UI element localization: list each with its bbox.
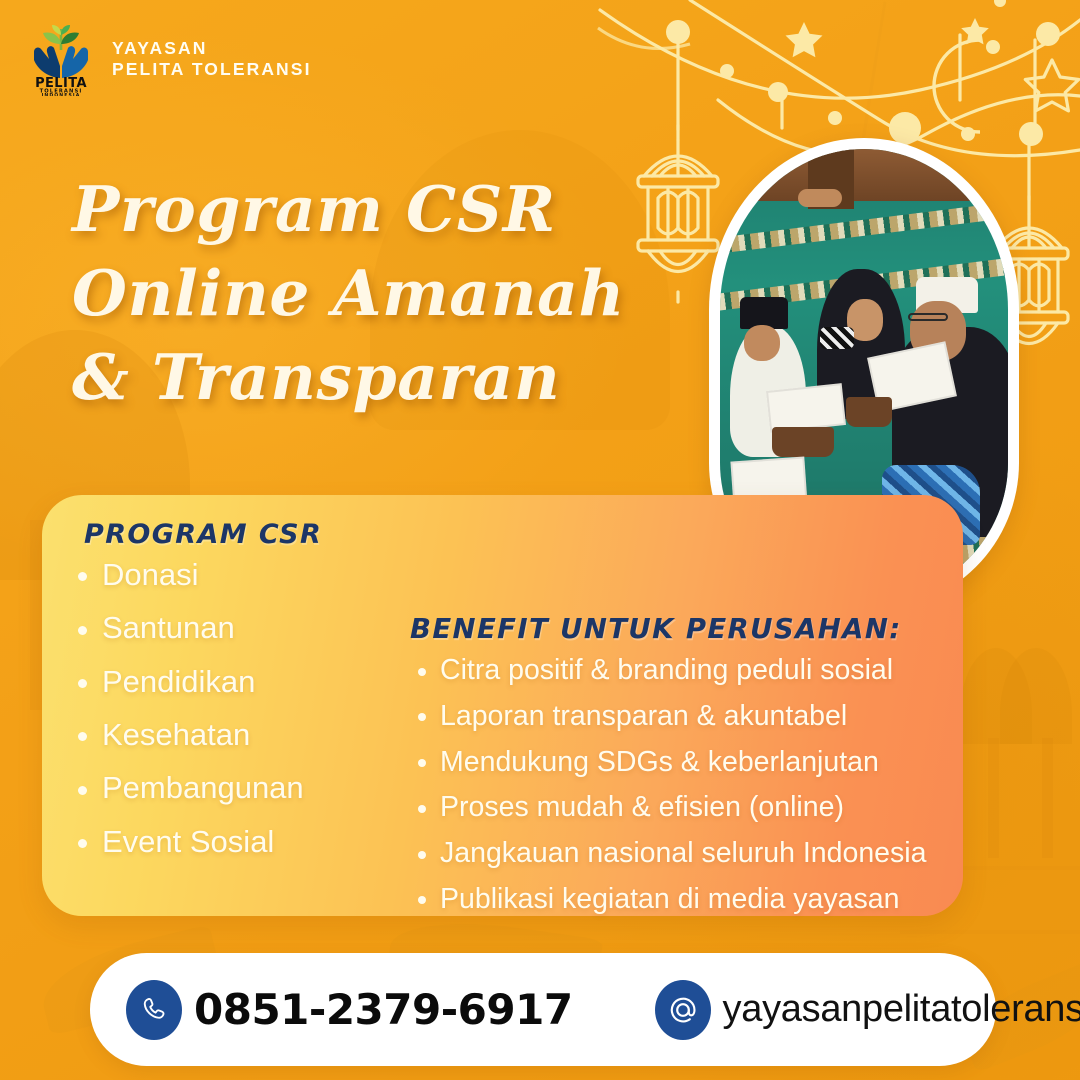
photo-rehal-3 <box>846 397 892 427</box>
list-item: Publikasi kegiatan di media yayasan <box>410 879 950 920</box>
photo-quran-2 <box>766 383 846 433</box>
headline-line-2: Online Amanah <box>72 252 712 336</box>
program-column: PROGRAM CSR Donasi Santunan Pendidikan K… <box>68 519 408 873</box>
list-item: Kesehatan <box>68 713 408 757</box>
bg-mosque-arch-2 <box>1000 648 1072 744</box>
at-sign-icon <box>655 980 711 1040</box>
bg-floor-line-2 <box>900 930 1080 934</box>
contact-bar: 0851-2379-6917 yayasanpelitatoleransi <box>90 953 996 1066</box>
headline-line-1: Program CSR <box>72 168 712 252</box>
instagram-contact[interactable]: yayasanpelitatoleransi <box>655 980 1080 1040</box>
phone-contact[interactable]: 0851-2379-6917 <box>126 980 573 1040</box>
brand-header: PELITA TOLERANSI INDONESIA YAYASAN PELIT… <box>24 22 312 96</box>
photo-girl-sleeve <box>820 327 854 349</box>
list-item: Laporan transparan & akuntabel <box>410 696 950 737</box>
brand-name: YAYASAN PELITA TOLERANSI <box>112 40 312 79</box>
photo-wood-wall <box>720 149 1008 201</box>
bg-mosque-column-1 <box>988 738 999 858</box>
list-item: Pembangunan <box>68 766 408 810</box>
phone-icon <box>126 980 182 1040</box>
list-item: Donasi <box>68 553 408 597</box>
brand-line-1: YAYASAN <box>112 40 312 58</box>
instagram-handle: yayasanpelitatoleransi <box>723 988 1080 1031</box>
list-item: Mendukung SDGs & keberlanjutan <box>410 742 950 783</box>
bg-mosque-arch-1 <box>960 648 1032 744</box>
list-item: Event Sosial <box>68 820 408 864</box>
photo-hand-top <box>798 189 842 207</box>
logo-icon-hands-plant: PELITA TOLERANSI INDONESIA <box>24 22 98 96</box>
list-item: Santunan <box>68 606 408 650</box>
svg-text:INDONESIA: INDONESIA <box>42 92 81 96</box>
list-item: Citra positif & branding peduli sosial <box>410 650 950 691</box>
poster-canvas: PELITA TOLERANSI INDONESIA YAYASAN PELIT… <box>0 0 1080 1080</box>
photo-rehal-1 <box>772 427 834 457</box>
content-card: PROGRAM CSR Donasi Santunan Pendidikan K… <box>42 495 963 916</box>
phone-number: 0851-2379-6917 <box>194 985 573 1034</box>
benefit-title: BENEFIT UNTUK PERUSAHAN: <box>410 613 950 645</box>
list-item: Jangkauan nasional seluruh Indonesia <box>410 833 950 874</box>
benefit-list: Citra positif & branding peduli sosial L… <box>410 650 950 920</box>
photo-carpet-band-1 <box>720 197 1008 257</box>
brand-line-2: PELITA TOLERANSI <box>112 61 312 79</box>
photo-boy-face <box>744 325 780 361</box>
headline-line-3: & Transparan <box>72 336 712 420</box>
list-item: Proses mudah & efisien (online) <box>410 787 950 828</box>
bg-mosque-column-2 <box>1042 738 1053 858</box>
program-list: Donasi Santunan Pendidikan Kesehatan Pem… <box>68 553 408 864</box>
page-title: Program CSR Online Amanah & Transparan <box>72 168 712 419</box>
program-title: PROGRAM CSR <box>84 519 408 550</box>
list-item: Pendidikan <box>68 660 408 704</box>
photo-teacher-glasses <box>908 313 948 321</box>
benefit-column: BENEFIT UNTUK PERUSAHAN: Citra positif &… <box>410 613 950 925</box>
